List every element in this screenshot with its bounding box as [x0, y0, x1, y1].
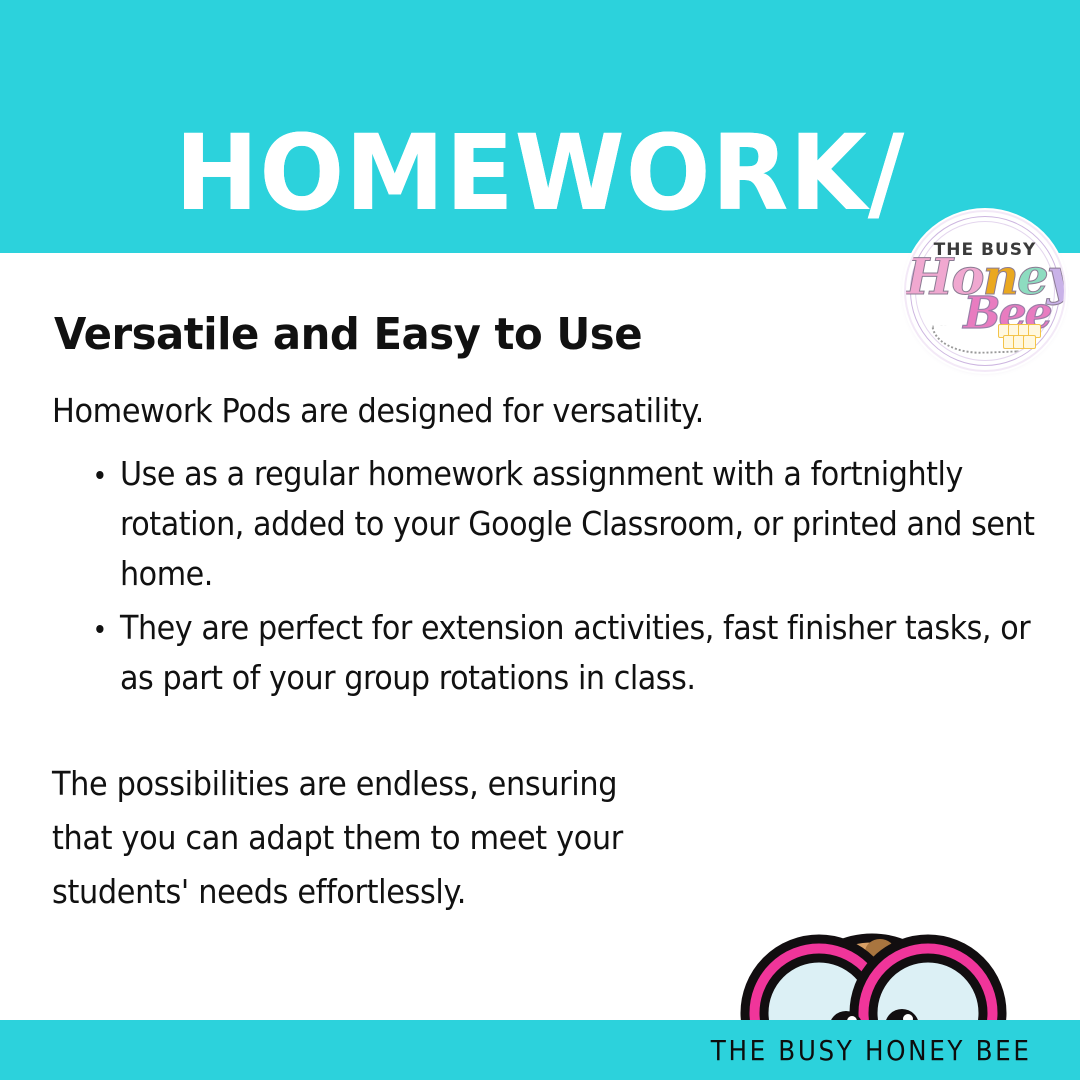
footer-brand-text: THE BUSY HONEY BEE: [711, 1034, 1032, 1067]
page-title-line-1: HOMEWORK/: [22, 118, 1059, 228]
main-content: Versatile and Easy to Use Homework Pods …: [0, 253, 1080, 1020]
lead-paragraph: Homework Pods are designed for versatili…: [52, 391, 880, 430]
slide-canvas: HOMEWORK/ LEARNING POD THE BUSY Honey Be…: [0, 0, 1080, 1080]
section-heading: Versatile and Easy to Use: [54, 309, 642, 360]
closing-paragraph: The possibilities are endless, ensuring …: [52, 757, 641, 919]
footer-band: THE BUSY HONEY BEE: [0, 1020, 1080, 1080]
list-item: They are perfect for extension activitie…: [120, 603, 1040, 703]
feature-bullet-list: Use as a regular homework assignment wit…: [82, 449, 1080, 707]
header-band: HOMEWORK/ LEARNING POD: [0, 0, 1080, 253]
list-item: Use as a regular homework assignment wit…: [120, 449, 1040, 599]
